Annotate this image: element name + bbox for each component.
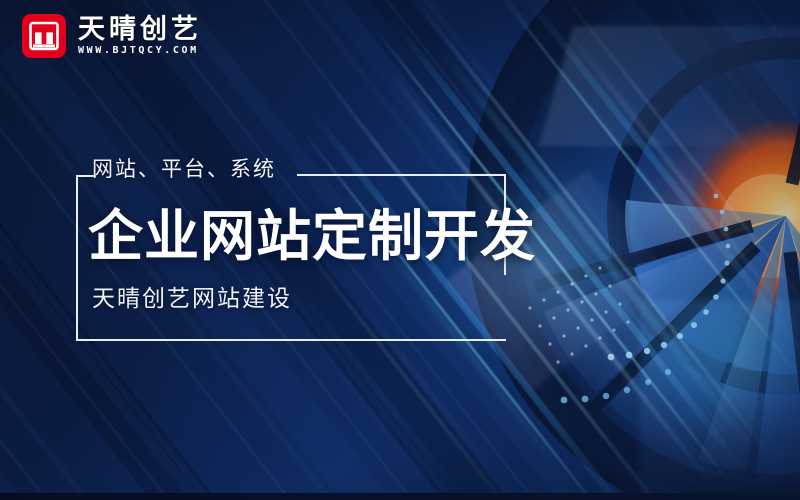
eyebrow-text: 网站、平台、系统 [92,159,276,180]
eyebrow-divider-rule [297,174,506,176]
bottom-band [0,493,800,500]
logo-company-name: 天晴创艺 [78,16,202,43]
page-title: 企业网站定制开发 [88,208,536,266]
logo-website-url: WWW.BJTQCY.COM [78,46,202,56]
frame-bottom-border [76,339,506,341]
logo-text-group: 天晴创艺 WWW.BJTQCY.COM [78,16,202,56]
promo-banner: 网站、平台、系统 企业网站定制开发 天晴创艺网站建设 天晴创艺 WWW.BJTQ… [0,0,800,500]
frame-left-border [76,175,78,341]
tagline-text: 天晴创艺网站建设 [92,288,292,311]
logo-mark-icon [22,14,66,58]
headline-block: 网站、平台、系统 企业网站定制开发 天晴创艺网站建设 [0,0,560,500]
brand-logo[interactable]: 天晴创艺 WWW.BJTQCY.COM [22,14,202,58]
